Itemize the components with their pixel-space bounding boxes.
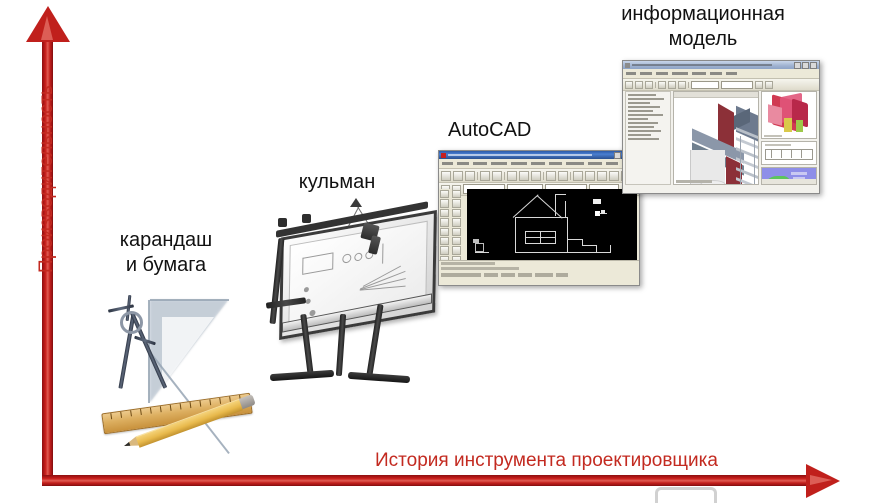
draw-polyline-icon[interactable] (440, 199, 449, 207)
status-ortho[interactable] (518, 273, 532, 277)
toolbar-open-icon[interactable] (453, 171, 463, 181)
stage-label-drafting-table: кульман (272, 170, 402, 195)
bim-close-button[interactable] (810, 62, 817, 69)
drafting-table-icon (262, 196, 437, 401)
autocad-drawing-canvas[interactable] (467, 189, 637, 263)
draw-hatch-icon[interactable] (440, 237, 449, 245)
bim-window-icon[interactable] (622, 60, 820, 194)
toolbar-cut-icon[interactable] (507, 171, 517, 181)
toolbar-redo-icon[interactable] (558, 171, 568, 181)
toolbar-undo-icon[interactable] (546, 171, 556, 181)
stage-label-information-model: информационная модель (588, 2, 818, 52)
bim-title-bar[interactable] (623, 61, 819, 69)
autocad-menu-bar[interactable] (439, 159, 639, 169)
bim-workspace (623, 89, 819, 187)
bim-zone-diagram-panel[interactable] (761, 167, 817, 185)
modify-copy-icon[interactable] (452, 199, 461, 207)
status-osnap[interactable] (535, 273, 553, 277)
bim-tool-column-icon[interactable] (658, 81, 666, 89)
draw-line-icon[interactable] (440, 190, 449, 198)
zone-diagram-statusbar (762, 179, 816, 184)
bim-app-icon (625, 63, 630, 68)
autocad-app-icon (441, 153, 446, 158)
x-axis-label: История инструмента проектировщика (375, 450, 718, 472)
table-pulley-icon (350, 198, 362, 207)
table-foot-right (348, 372, 410, 383)
modify-rotate-icon[interactable] (452, 246, 461, 254)
bim-menu-file[interactable] (626, 72, 636, 75)
bim-view-combo[interactable] (721, 81, 753, 89)
menu-file[interactable] (442, 162, 453, 165)
model-cylinder-core (700, 184, 724, 185)
bim-project-browser[interactable] (625, 91, 671, 185)
bim-analysis-3d-panel[interactable] (761, 91, 817, 139)
stage-label-autocad: AutoCAD (448, 118, 588, 143)
bim-menu-edit[interactable] (640, 72, 652, 75)
autocad-title-bar[interactable] (439, 151, 639, 159)
draw-rectangle-icon[interactable] (440, 228, 449, 236)
bim-tool-render-icon[interactable] (755, 81, 763, 89)
modify-erase-icon[interactable] (452, 190, 461, 198)
drafting-tools-icon (100, 295, 250, 455)
toolbar-pan-icon[interactable] (573, 171, 583, 181)
autocad-modify-toolbar[interactable] (451, 189, 464, 265)
autocad-window-icon[interactable] (438, 150, 640, 286)
toolbar-designcenter-icon[interactable] (609, 171, 619, 181)
status-model[interactable] (556, 273, 568, 277)
toolbar-zoom-icon[interactable] (585, 171, 595, 181)
toolbar-preview-icon[interactable] (492, 171, 502, 181)
bim-menu-view[interactable] (656, 72, 668, 75)
diagram-canvas: Производительность История инструмента п… (0, 0, 871, 503)
bim-model-statusline (676, 180, 712, 183)
status-snap[interactable] (484, 273, 498, 277)
menu-modify[interactable] (588, 162, 602, 165)
bim-window-controls[interactable] (794, 62, 817, 69)
toolbar-properties-icon[interactable] (597, 171, 607, 181)
bim-tool-wall-icon[interactable] (635, 81, 643, 89)
x-axis-arrow-head-highlight (810, 475, 832, 485)
menu-draw[interactable] (549, 162, 562, 165)
bim-menu-model[interactable] (672, 72, 688, 75)
toolbar-copy-icon[interactable] (519, 171, 529, 181)
modify-offset-icon[interactable] (452, 218, 461, 226)
bim-title-text (632, 64, 772, 66)
bim-level-combo[interactable] (691, 81, 719, 89)
table-knob-mid (302, 214, 311, 223)
toolbar-new-icon[interactable] (441, 171, 451, 181)
bim-menu-tools[interactable] (692, 72, 706, 75)
table-knob-left (278, 218, 287, 227)
y-axis-arrow-head-highlight (41, 16, 53, 40)
set-square-edge-top (150, 299, 229, 301)
bim-3d-model-view[interactable] (673, 91, 759, 185)
compass-ring-icon (120, 311, 143, 334)
bim-tool-select-icon[interactable] (625, 81, 633, 89)
bim-model-view-title (674, 92, 758, 98)
modify-array-icon[interactable] (452, 228, 461, 236)
toolbar-paste-icon[interactable] (531, 171, 541, 181)
menu-help[interactable] (606, 162, 618, 165)
draw-arc-icon[interactable] (440, 218, 449, 226)
status-grid[interactable] (501, 273, 515, 277)
y-axis-label: Производительность (36, 59, 58, 299)
menu-insert[interactable] (491, 162, 507, 165)
modify-move-icon[interactable] (452, 237, 461, 245)
bim-side-panels (761, 91, 817, 185)
toolbar-save-icon[interactable] (465, 171, 475, 181)
autocad-title-text (448, 154, 592, 156)
bim-minimize-button[interactable] (794, 62, 801, 69)
autocad-toolbar-main[interactable] (439, 169, 639, 183)
stage-label-pencil-and-paper: карандаш и бумага (96, 228, 236, 278)
bim-tool-section-icon[interactable] (765, 81, 773, 89)
draw-circle-icon[interactable] (440, 209, 449, 217)
menu-edit[interactable] (457, 162, 469, 165)
bim-tool-beam-icon[interactable] (668, 81, 676, 89)
table-foot-left (270, 370, 334, 381)
bim-menu-help[interactable] (726, 72, 737, 75)
bim-tool-roof-icon[interactable] (678, 81, 686, 89)
cropped-bottom-artifact (655, 487, 717, 503)
bim-section-panel[interactable] (761, 141, 817, 165)
menu-tools[interactable] (531, 162, 545, 165)
menu-view[interactable] (473, 162, 487, 165)
bim-maximize-button[interactable] (802, 62, 809, 69)
x-axis-arrow-shaft (42, 475, 814, 486)
status-coords (441, 273, 481, 277)
menu-dimension[interactable] (566, 162, 584, 165)
toolbar-print-icon[interactable] (480, 171, 490, 181)
zone-label-top (791, 172, 807, 175)
bim-menu-window[interactable] (710, 72, 722, 75)
menu-format[interactable] (511, 162, 527, 165)
bim-menu-bar[interactable] (623, 69, 819, 79)
bim-tool-slab-icon[interactable] (645, 81, 653, 89)
autocad-command-line[interactable] (439, 260, 639, 285)
minimize-button[interactable] (614, 152, 621, 159)
modify-mirror-icon[interactable] (452, 209, 461, 217)
draw-text-icon[interactable] (440, 246, 449, 254)
